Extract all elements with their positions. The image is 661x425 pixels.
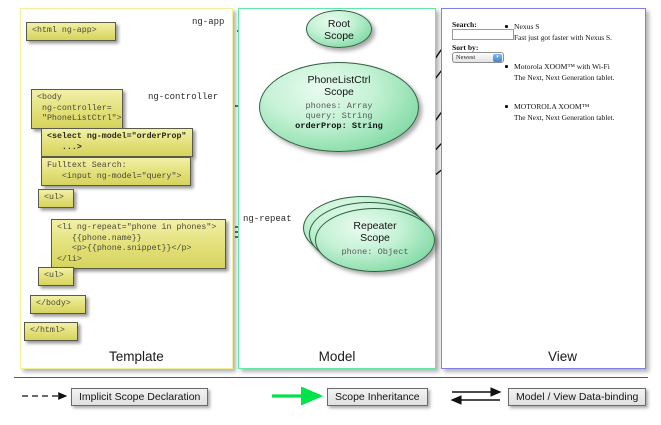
scope-root-title-2: Scope bbox=[307, 30, 371, 42]
scope-repeater: Repeater Scope phone: Object bbox=[315, 208, 435, 272]
bullet-icon bbox=[505, 65, 508, 68]
scope-root: Root Scope bbox=[306, 10, 372, 48]
scope-repeater-title-1: Repeater bbox=[316, 220, 434, 232]
search-label: Search: bbox=[452, 20, 477, 29]
sort-by-selected-value: Newest bbox=[456, 54, 475, 61]
column-label-model: Model bbox=[239, 349, 435, 364]
code-box-body-close: </body> bbox=[30, 295, 86, 314]
phone-snippet: Fast just got faster with Nexus S. bbox=[514, 33, 612, 42]
sort-by-select[interactable]: Newest ▾ bbox=[452, 52, 504, 63]
scope-repeater-title-2: Scope bbox=[316, 232, 434, 244]
edge-label-ng-controller: ng-controller bbox=[148, 92, 218, 102]
scope-phonelistctrl-title-2: Scope bbox=[260, 86, 418, 98]
code-box-li-ng-repeat: <li ng-repeat="phone in phones"> {{phone… bbox=[51, 219, 226, 269]
scope-prop-phones: phones: Array bbox=[260, 101, 418, 111]
scope-prop-orderprop: orderProp: String bbox=[260, 121, 418, 131]
legend-divider bbox=[14, 377, 648, 378]
code-box-html-open: <html ng-app> bbox=[26, 22, 116, 41]
code-box-body-open: <body ng-controller= "PhoneListCtrl"> bbox=[31, 89, 123, 129]
scope-prop-phone: phone: Object bbox=[316, 247, 434, 257]
scope-phonelistctrl-props: phones: Array query: String orderProp: S… bbox=[260, 101, 418, 131]
chevron-down-icon: ▾ bbox=[493, 54, 502, 62]
scope-root-title-1: Root bbox=[307, 18, 371, 30]
phone-name: MOTOROLA XOOM™ bbox=[514, 102, 589, 111]
legend-glyph-data-binding bbox=[452, 392, 500, 400]
column-label-view: View bbox=[442, 349, 645, 364]
search-input[interactable] bbox=[452, 29, 514, 40]
code-box-ul-open: <ul> bbox=[38, 189, 74, 208]
sort-by-label: Sort by: bbox=[452, 43, 478, 52]
code-box-select-tag: <select ng-model="orderProp" ...> bbox=[41, 128, 193, 157]
edge-label-ng-app: ng-app bbox=[192, 17, 224, 27]
column-label-template: Template bbox=[21, 349, 232, 364]
legend-item-data-binding: Model / View Data-binding bbox=[508, 388, 646, 406]
bullet-icon bbox=[505, 105, 508, 108]
scope-prop-query: query: String bbox=[260, 111, 418, 121]
phone-snippet: The Next, Next Generation tablet. bbox=[514, 73, 615, 82]
scope-phonelistctrl: PhoneListCtrl Scope phones: Array query:… bbox=[259, 62, 419, 152]
legend-item-scope-inheritance: Scope Inheritance bbox=[327, 388, 428, 406]
code-box-fulltext-search: Fulltext Search: <input ng-model="query"… bbox=[41, 157, 191, 186]
phone-name: Motorola XOOM™ with Wi-Fi bbox=[514, 62, 610, 71]
bullet-icon bbox=[505, 25, 508, 28]
scope-repeater-props: phone: Object bbox=[316, 247, 434, 257]
code-box-html-close: </html> bbox=[24, 322, 78, 341]
angularjs-architecture-diagram: Template <html ng-app> <body ng-controll… bbox=[0, 0, 661, 425]
code-box-ul-close: <ul> bbox=[38, 267, 74, 286]
edge-label-ng-repeat: ng-repeat bbox=[243, 214, 292, 224]
phone-name: Nexus S bbox=[514, 22, 540, 31]
legend-item-implicit-scope: Implicit Scope Declaration bbox=[71, 388, 208, 406]
phone-snippet: The Next, Next Generation tablet. bbox=[514, 113, 615, 122]
scope-phonelistctrl-title-1: PhoneListCtrl bbox=[260, 74, 418, 86]
